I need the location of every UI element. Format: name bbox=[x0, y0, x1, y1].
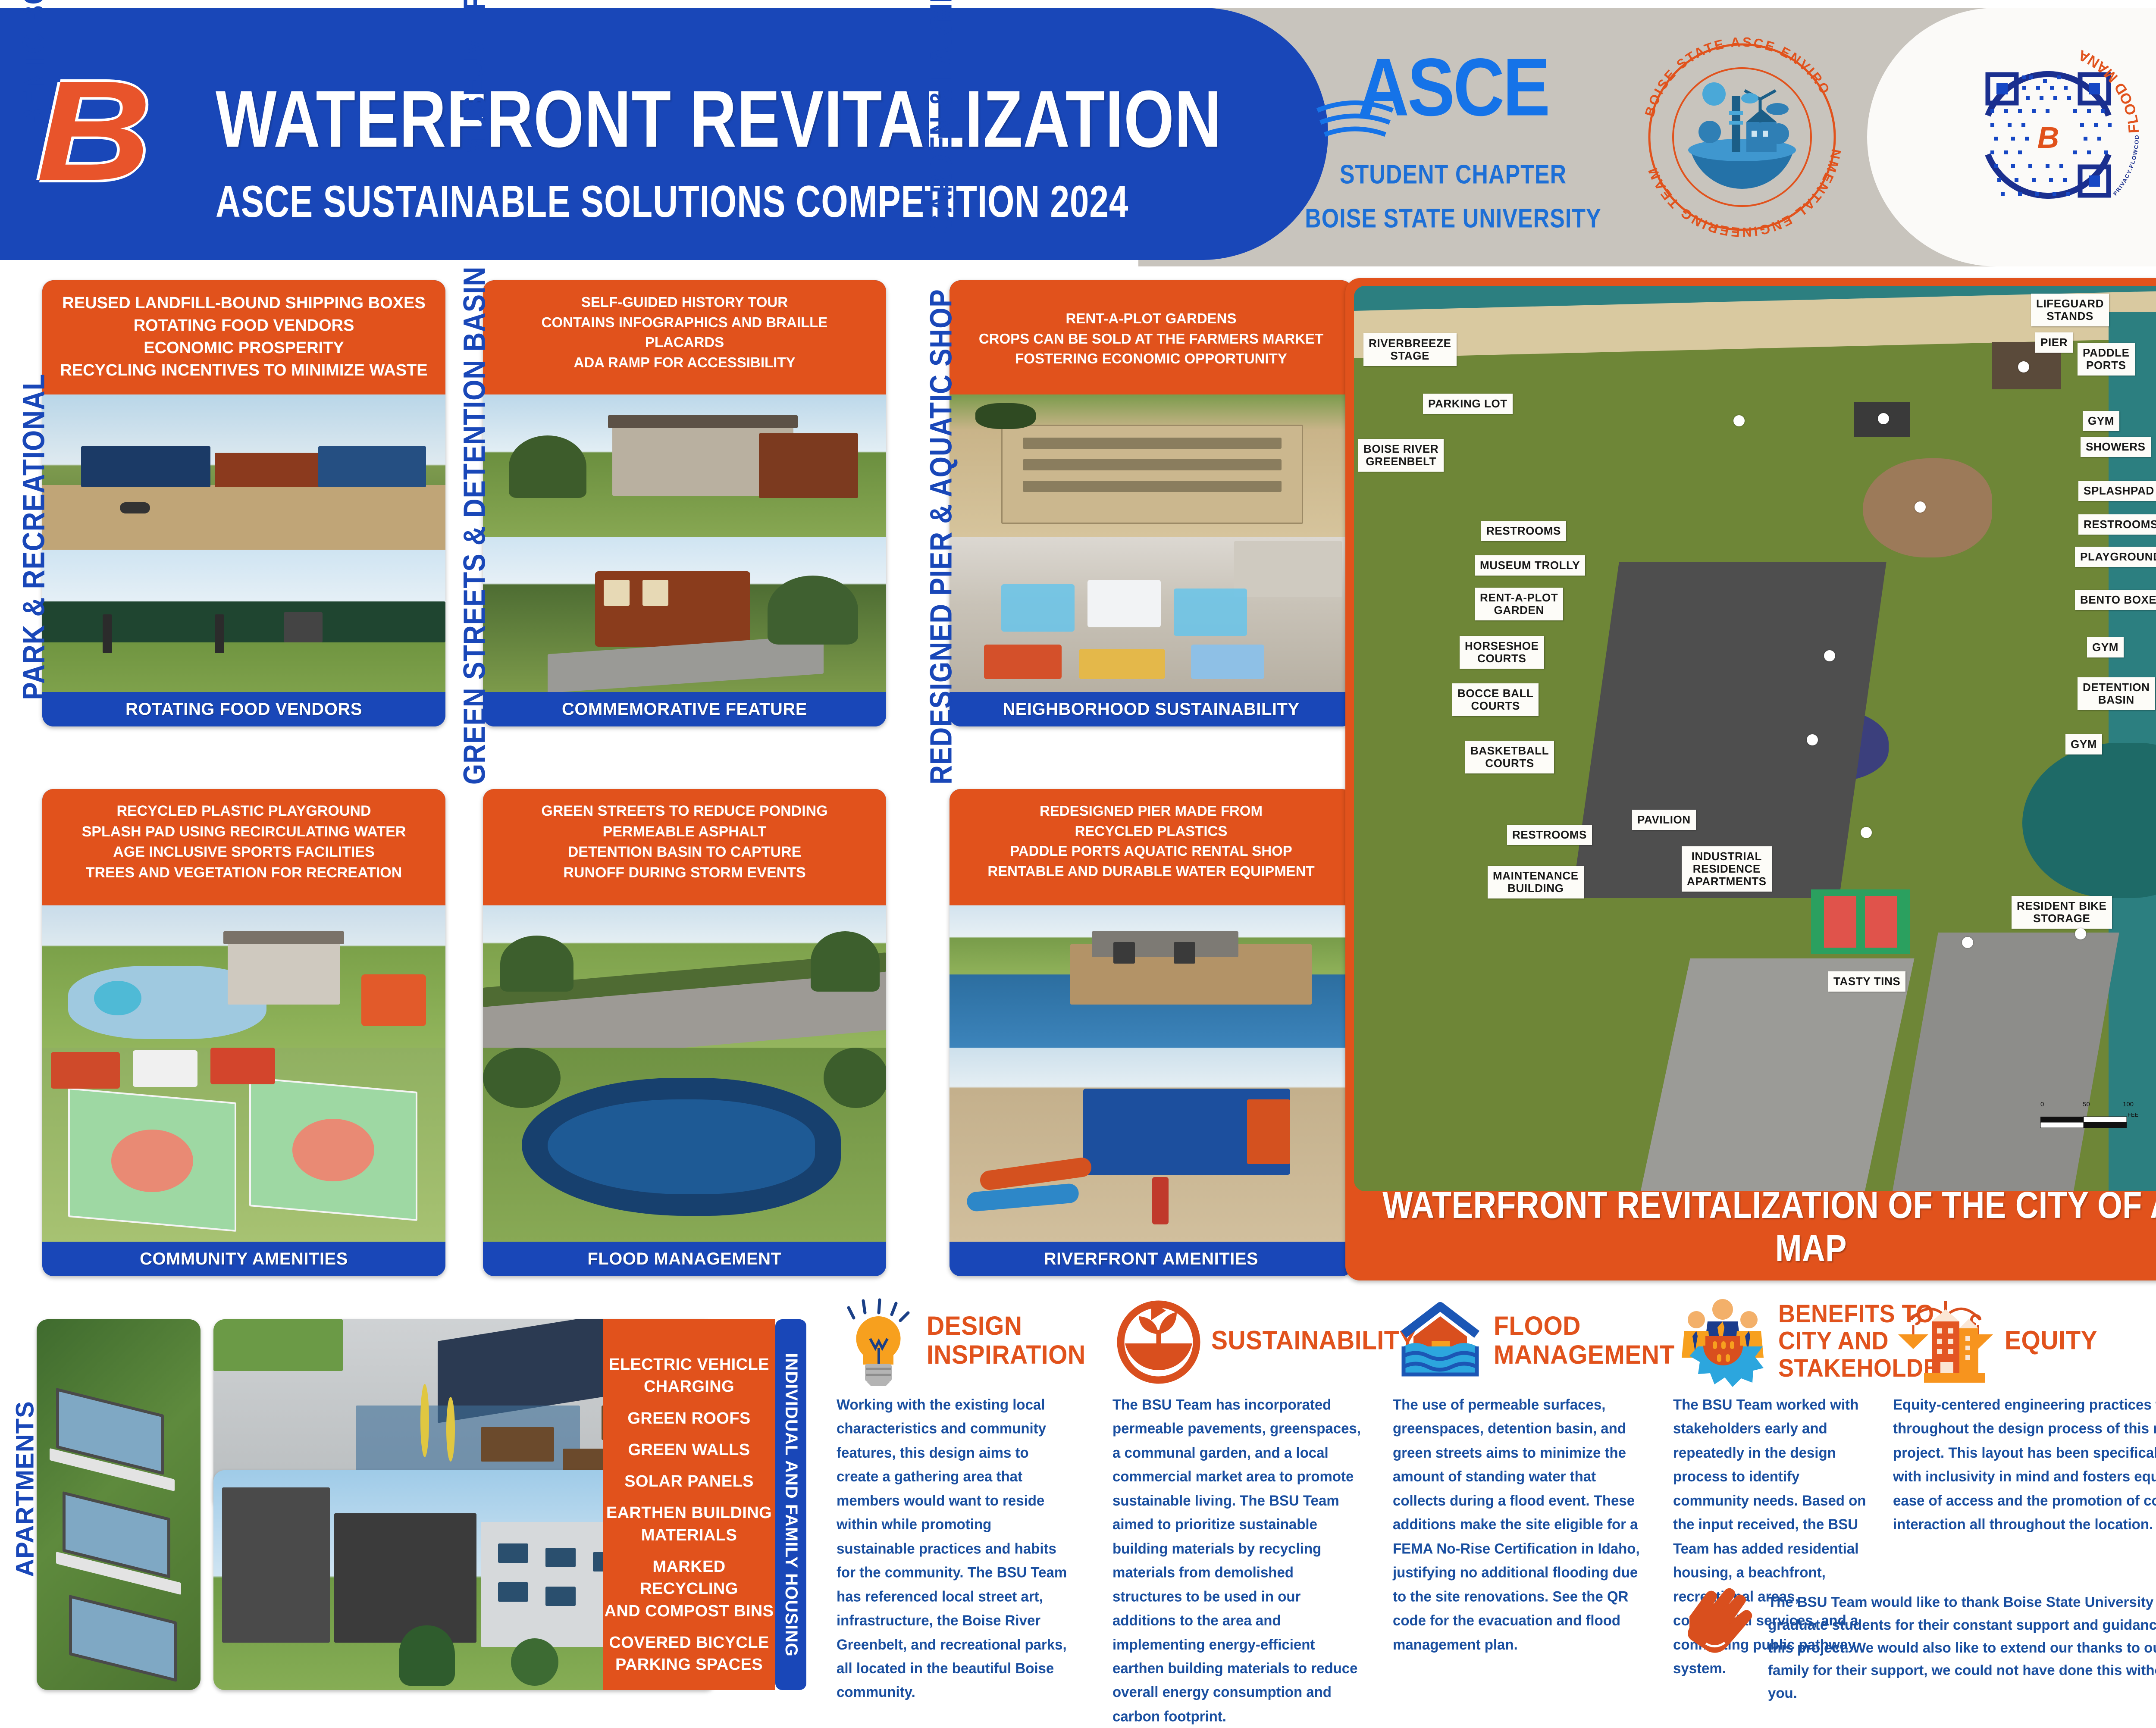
info-body: Equity-centered engineering practices we… bbox=[1893, 1393, 2156, 1537]
svg-text:0: 0 bbox=[2040, 1101, 2044, 1108]
map-label: RENT-A-PLOT GARDEN bbox=[1475, 588, 1563, 620]
map-label: PARKING LOT bbox=[1423, 394, 1513, 414]
map-label: INDUSTRIAL RESIDENCE APARTMENTS bbox=[1682, 846, 1772, 892]
site-map-canvas: RIVERBREEZE STAGE PARKING LOT BOISE RIVE… bbox=[1354, 286, 2156, 1191]
apartment-image-left bbox=[37, 1319, 201, 1690]
card-bullets: REDESIGNED PIER MADE FROM RECYCLED PLAST… bbox=[950, 789, 1353, 905]
info-body: Working with the existing local characte… bbox=[837, 1393, 1069, 1704]
map-label: PIER bbox=[2035, 332, 2073, 353]
map-leader-dot bbox=[1807, 734, 1818, 745]
map-label: BENTO BOXES bbox=[2075, 590, 2156, 610]
card-caption: RIVERFRONT AMENITIES bbox=[950, 1242, 1353, 1276]
map-label: MAINTENANCE BUILDING bbox=[1488, 866, 1584, 898]
map-label: BASKETBALL COURTS bbox=[1465, 741, 1554, 773]
bottom-section: APARTMENTS ELECTRIC VEHICLE CHARGING bbox=[0, 1289, 2156, 1701]
info-title: FLOOD MANAGEMENT bbox=[1494, 1312, 1675, 1370]
map-label: GYM bbox=[2087, 637, 2124, 657]
card-image-top bbox=[950, 394, 1353, 537]
card-bento-boxes: REUSED LANDFILL-BOUND SHIPPING BOXES ROT… bbox=[42, 280, 445, 726]
card-bullets: SELF-GUIDED HISTORY TOUR CONTAINS INFOGR… bbox=[483, 280, 886, 394]
card-image-bottom bbox=[42, 1048, 445, 1242]
info-title: SUSTAINABILITY bbox=[1211, 1327, 1416, 1355]
info-section-equity: EQUITY Equity-centered engineering pract… bbox=[1893, 1289, 2156, 1531]
map-label: GYM bbox=[2083, 411, 2119, 431]
map-leader-dot bbox=[1733, 415, 1745, 426]
asce-logo: ASCE STUDENT CHAPTER BOISE STATE UNIVERS… bbox=[1302, 47, 1604, 232]
map-label: TASTY TINS bbox=[1828, 971, 1905, 992]
card-image-bottom bbox=[42, 550, 445, 692]
map-leader-dot bbox=[1915, 501, 1926, 513]
map-label: PADDLE PORTS bbox=[2078, 343, 2135, 376]
side-label-green-streets: GREEN STREETS & DETENTION BASIN bbox=[457, 289, 487, 785]
map-leader-dot bbox=[1878, 413, 1889, 424]
map-court-2 bbox=[1865, 896, 1897, 948]
svg-text:100: 100 bbox=[2123, 1101, 2134, 1108]
card-caption: FLOOD MANAGEMENT bbox=[483, 1242, 886, 1276]
map-label: RESTROOMS bbox=[1481, 521, 1566, 541]
map-label: BOISE RIVER GREENBELT bbox=[1358, 439, 1444, 472]
map-label: GYM bbox=[2065, 734, 2102, 754]
side-label-garden-farmers-market: GARDEN & FARMERS MARKET bbox=[924, 0, 953, 276]
card-park-recreational: RECYCLED PLASTIC PLAYGROUND SPLASH PAD U… bbox=[42, 789, 445, 1276]
card-bullets: RENT-A-PLOT GARDENS CROPS CAN BE SOLD AT… bbox=[950, 280, 1353, 394]
site-map-panel: RIVERBREEZE STAGE PARKING LOT BOISE RIVE… bbox=[1345, 278, 2156, 1280]
info-body: The use of permeable surfaces, greenspac… bbox=[1393, 1393, 1643, 1656]
card-museum-trolley: SELF-GUIDED HISTORY TOUR CONTAINS INFOGR… bbox=[483, 280, 886, 726]
poster-header: B WATERFRONT REVITALIZATION ASCE SUSTAIN… bbox=[0, 8, 2156, 266]
info-section-design-inspiration: DESIGN INSPIRATION Working with the exis… bbox=[837, 1289, 1095, 1692]
side-label-apartments: APARTMENTS bbox=[11, 1368, 40, 1610]
card-image-bottom bbox=[950, 1048, 1353, 1242]
map-leader-dot bbox=[1861, 827, 1872, 838]
feature-card-grid: BENTO BOXES REUSED LANDFILL-BOUND SHIPPI… bbox=[0, 276, 1341, 1280]
card-green-streets-detention-basin: GREEN STREETS TO REDUCE PONDING PERMEABL… bbox=[483, 789, 886, 1276]
bsu-logo-icon: B bbox=[36, 66, 203, 204]
map-leader-dot bbox=[1824, 650, 1835, 661]
card-image-bottom bbox=[483, 1048, 886, 1242]
card-caption: ROTATING FOOD VENDORS bbox=[42, 692, 445, 726]
apartment-features-strip: ELECTRIC VEHICLE CHARGING GREEN ROOFS GR… bbox=[603, 1319, 775, 1690]
map-label: HORSESHOE COURTS bbox=[1460, 636, 1544, 669]
flooded-house-icon bbox=[1393, 1296, 1488, 1386]
map-label: RESIDENT BIKE STORAGE bbox=[2012, 896, 2112, 929]
card-image-top bbox=[483, 905, 886, 1048]
map-label: RIVERBREEZE STAGE bbox=[1363, 333, 1457, 366]
map-label: BOCCE BALL COURTS bbox=[1452, 683, 1539, 716]
map-playground-area bbox=[1863, 458, 1992, 557]
svg-text:50: 50 bbox=[2083, 1101, 2090, 1108]
individual-family-housing-label: INDIVIDUAL AND FAMILY HOUSING bbox=[775, 1319, 806, 1690]
team-logo-icon: BOISE STATE ASCE ENVIRO NMENTAL ENGINEER… bbox=[1626, 21, 1858, 254]
map-label: SPLASHPAD bbox=[2078, 481, 2156, 501]
side-label-park-recreational: PARK & RECREATIONAL bbox=[16, 289, 46, 785]
map-leader-dot bbox=[2075, 928, 2086, 939]
svg-text:FLOOD MANAGEMENT PLAN: FLOOD MANAGEMENT PLAN bbox=[1936, 23, 2142, 134]
svg-text:B: B bbox=[2037, 121, 2059, 154]
map-label: SHOWERS bbox=[2081, 437, 2151, 457]
card-image-top bbox=[483, 394, 886, 537]
map-label: LIFEGUARD STANDS bbox=[2031, 294, 2109, 326]
map-label: RESTROOMS bbox=[1507, 825, 1592, 845]
svg-text:FEET: FEET bbox=[2128, 1111, 2139, 1118]
card-caption: NEIGHBORHOOD SUSTAINABILITY bbox=[950, 692, 1353, 726]
side-label-museum-trolley: MUSEUM TROLLEY bbox=[457, 0, 487, 276]
info-section-flood-management: FLOOD MANAGEMENT The use of permeable su… bbox=[1393, 1289, 1660, 1646]
map-label: PAVILION bbox=[1632, 810, 1696, 830]
info-section-sustainability: SUSTAINABILITY The BSU Team has incorpor… bbox=[1112, 1289, 1380, 1715]
card-image-bottom bbox=[483, 537, 886, 692]
qr-code-icon: B PRIVACY.FLOWCODE.COM FLOOD MANAGEMENT … bbox=[1936, 23, 2156, 247]
page-title: WATERFRONT REVITALIZATION bbox=[216, 72, 1222, 166]
map-label: MUSEUM TROLLY bbox=[1475, 555, 1585, 576]
card-image-top bbox=[42, 905, 445, 1048]
map-label: PLAYGROUND bbox=[2075, 547, 2156, 567]
stakeholders-gear-icon bbox=[1673, 1295, 1772, 1387]
sprout-recycle-icon bbox=[1112, 1295, 1205, 1387]
clapping-hands-icon bbox=[1682, 1587, 1757, 1658]
scales-buildings-icon bbox=[1893, 1295, 1999, 1387]
card-bullets: REUSED LANDFILL-BOUND SHIPPING BOXES ROT… bbox=[42, 280, 445, 394]
card-bullets: RECYCLED PLASTIC PLAYGROUND SPLASH PAD U… bbox=[42, 789, 445, 905]
lightbulb-icon bbox=[837, 1296, 921, 1386]
card-image-bottom bbox=[950, 537, 1353, 692]
card-caption: COMMUNITY AMENITIES bbox=[42, 1242, 445, 1276]
page-subtitle: ASCE SUSTAINABLE SOLUTIONS COMPETITION 2… bbox=[216, 176, 1128, 228]
asce-student-chapter: STUDENT CHAPTER bbox=[1302, 159, 1604, 190]
side-label-bento-boxes: BENTO BOXES bbox=[16, 0, 46, 276]
card-image-top bbox=[950, 905, 1353, 1048]
map-leader-dot bbox=[1962, 937, 1973, 948]
card-redesigned-pier-aquatic-shop: REDESIGNED PIER MADE FROM RECYCLED PLAST… bbox=[950, 789, 1353, 1276]
map-court-1 bbox=[1824, 896, 1856, 948]
card-garden-farmers-market: RENT-A-PLOT GARDENS CROPS CAN BE SOLD AT… bbox=[950, 280, 1353, 726]
card-bullets: GREEN STREETS TO REDUCE PONDING PERMEABL… bbox=[483, 789, 886, 905]
info-body: The BSU Team has incorporated permeable … bbox=[1112, 1393, 1363, 1728]
map-label: RESTROOMS bbox=[2078, 514, 2156, 535]
card-image-top bbox=[42, 394, 445, 550]
side-label-redesigned-pier: REDESIGNED PIER & AQUATIC SHOP bbox=[924, 289, 953, 785]
asce-university: BOISE STATE UNIVERSITY bbox=[1302, 203, 1604, 234]
acknowledgement-text: The BSU Team would like to thank Boise S… bbox=[1768, 1591, 2156, 1705]
map-label: DETENTION BASIN bbox=[2078, 677, 2155, 710]
info-title: DESIGN INSPIRATION bbox=[927, 1312, 1086, 1370]
map-leader-dot bbox=[2018, 361, 2029, 373]
info-title: EQUITY bbox=[2005, 1327, 2097, 1355]
map-title: WATERFRONT REVITALIZATION OF THE CITY OF… bbox=[1345, 1183, 2156, 1270]
asce-wordmark: ASCE bbox=[1302, 41, 1604, 134]
map-scale-bar: 0 50 100 FEET bbox=[2040, 1099, 2139, 1131]
card-caption: COMMEMORATIVE FEATURE bbox=[483, 692, 886, 726]
